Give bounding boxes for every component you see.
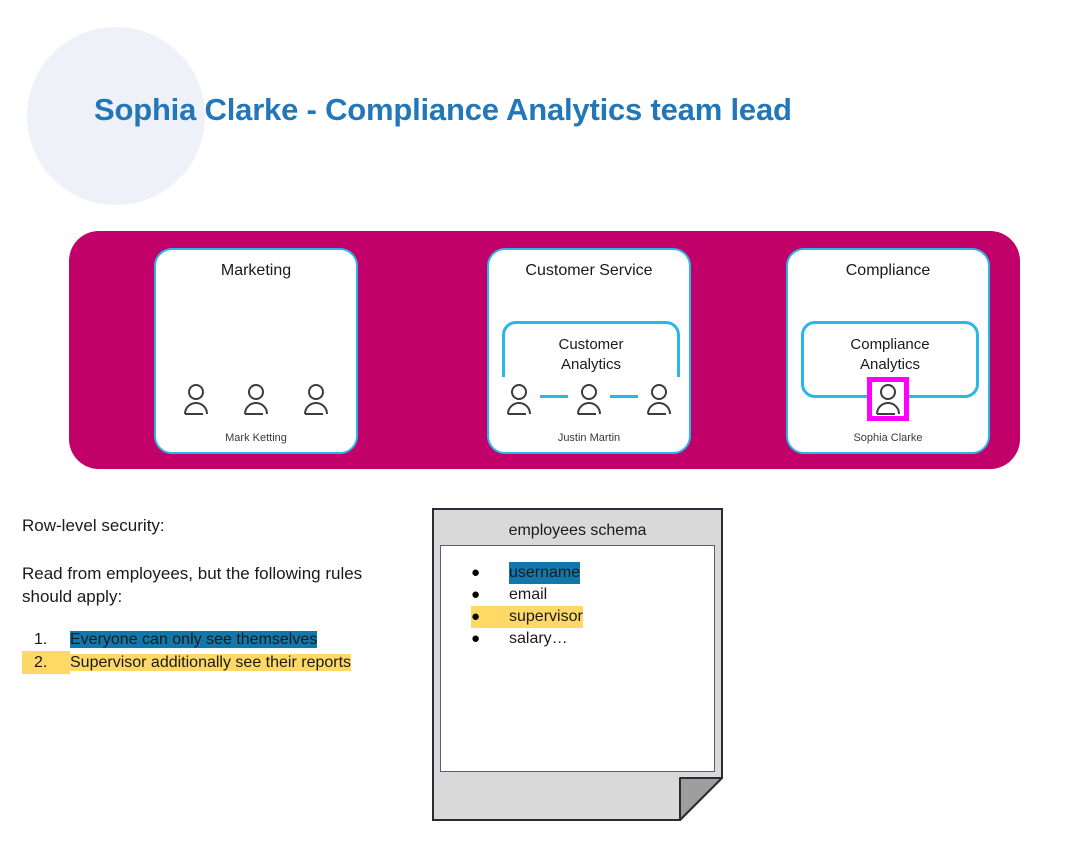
- subteam-label: Compliance Analytics: [804, 335, 976, 375]
- person-chip[interactable]: [175, 377, 217, 421]
- person-icon: [644, 383, 674, 415]
- person-icon-row: [489, 377, 689, 421]
- department-person-label: Mark Ketting: [156, 432, 356, 444]
- subteam-label: Customer Analytics: [505, 335, 677, 375]
- person-icon: [181, 383, 211, 415]
- bullet-icon: ●: [471, 562, 509, 584]
- department-title: Marketing: [156, 262, 356, 280]
- schema-field-row[interactable]: ● salary…: [441, 628, 714, 650]
- department-person-label: Sophia Clarke: [788, 432, 988, 444]
- rule-item: 1. Everyone can only see themselves: [22, 628, 402, 651]
- department-card-compliance[interactable]: Compliance Compliance Analytics Sophia C…: [786, 248, 990, 454]
- person-chip[interactable]: [638, 377, 680, 421]
- department-person-label: Justin Martin: [489, 432, 689, 444]
- row-level-security-paragraph: Read from employees, but the following r…: [22, 562, 382, 608]
- rules-list: 1. Everyone can only see themselves 2. S…: [22, 628, 402, 674]
- person-icon: [241, 383, 271, 415]
- rule-number: 1.: [22, 628, 70, 651]
- person-chip[interactable]: [498, 377, 540, 421]
- rule-text-highlight: Supervisor additionally see their report…: [70, 654, 351, 671]
- rule-text-highlight: Everyone can only see themselves: [70, 631, 317, 648]
- page-title: Sophia Clarke - Compliance Analytics tea…: [94, 92, 792, 128]
- bullet-icon: ●: [471, 628, 509, 650]
- department-title: Customer Service: [489, 262, 689, 280]
- rule-item: 2. Supervisor additionally see their rep…: [22, 651, 402, 674]
- bullet-icon: ●: [471, 606, 509, 628]
- schema-title: employees schema: [432, 522, 723, 540]
- schema-field-row[interactable]: ● username: [441, 562, 714, 584]
- bullet-icon: ●: [471, 584, 509, 606]
- person-icon: [873, 383, 903, 415]
- schema-field-name: username: [509, 562, 580, 584]
- person-icon: [504, 383, 534, 415]
- person-chip-highlighted[interactable]: [867, 377, 909, 421]
- schema-field-panel: ● username ● email ● supervisor ● salary…: [440, 545, 715, 772]
- department-card-customer-service[interactable]: Customer Service Customer Analytics: [487, 248, 691, 454]
- schema-field-name: email: [509, 584, 547, 606]
- person-icon-row: [788, 377, 988, 421]
- schema-field-name: supervisor: [509, 606, 583, 628]
- person-icon: [301, 383, 331, 415]
- person-chip[interactable]: [295, 377, 337, 421]
- rule-text: Everyone can only see themselves: [70, 628, 402, 651]
- department-card-marketing[interactable]: Marketing Mark Ketting: [154, 248, 358, 454]
- person-icon-row: [156, 377, 356, 421]
- person-chip[interactable]: [568, 377, 610, 421]
- schema-field-row[interactable]: ● email: [441, 584, 714, 606]
- rule-text: Supervisor additionally see their report…: [70, 651, 402, 674]
- person-icon: [574, 383, 604, 415]
- schema-field-row[interactable]: ● supervisor: [441, 606, 714, 628]
- schema-field-name: salary…: [509, 628, 568, 650]
- schema-field-list: ● username ● email ● supervisor ● salary…: [441, 546, 714, 650]
- rule-number: 2.: [22, 651, 70, 674]
- person-chip[interactable]: [235, 377, 277, 421]
- department-title: Compliance: [788, 262, 988, 280]
- employees-schema-document[interactable]: employees schema ● username ● email ● su…: [432, 508, 723, 821]
- row-level-security-heading: Row-level security:: [22, 516, 165, 536]
